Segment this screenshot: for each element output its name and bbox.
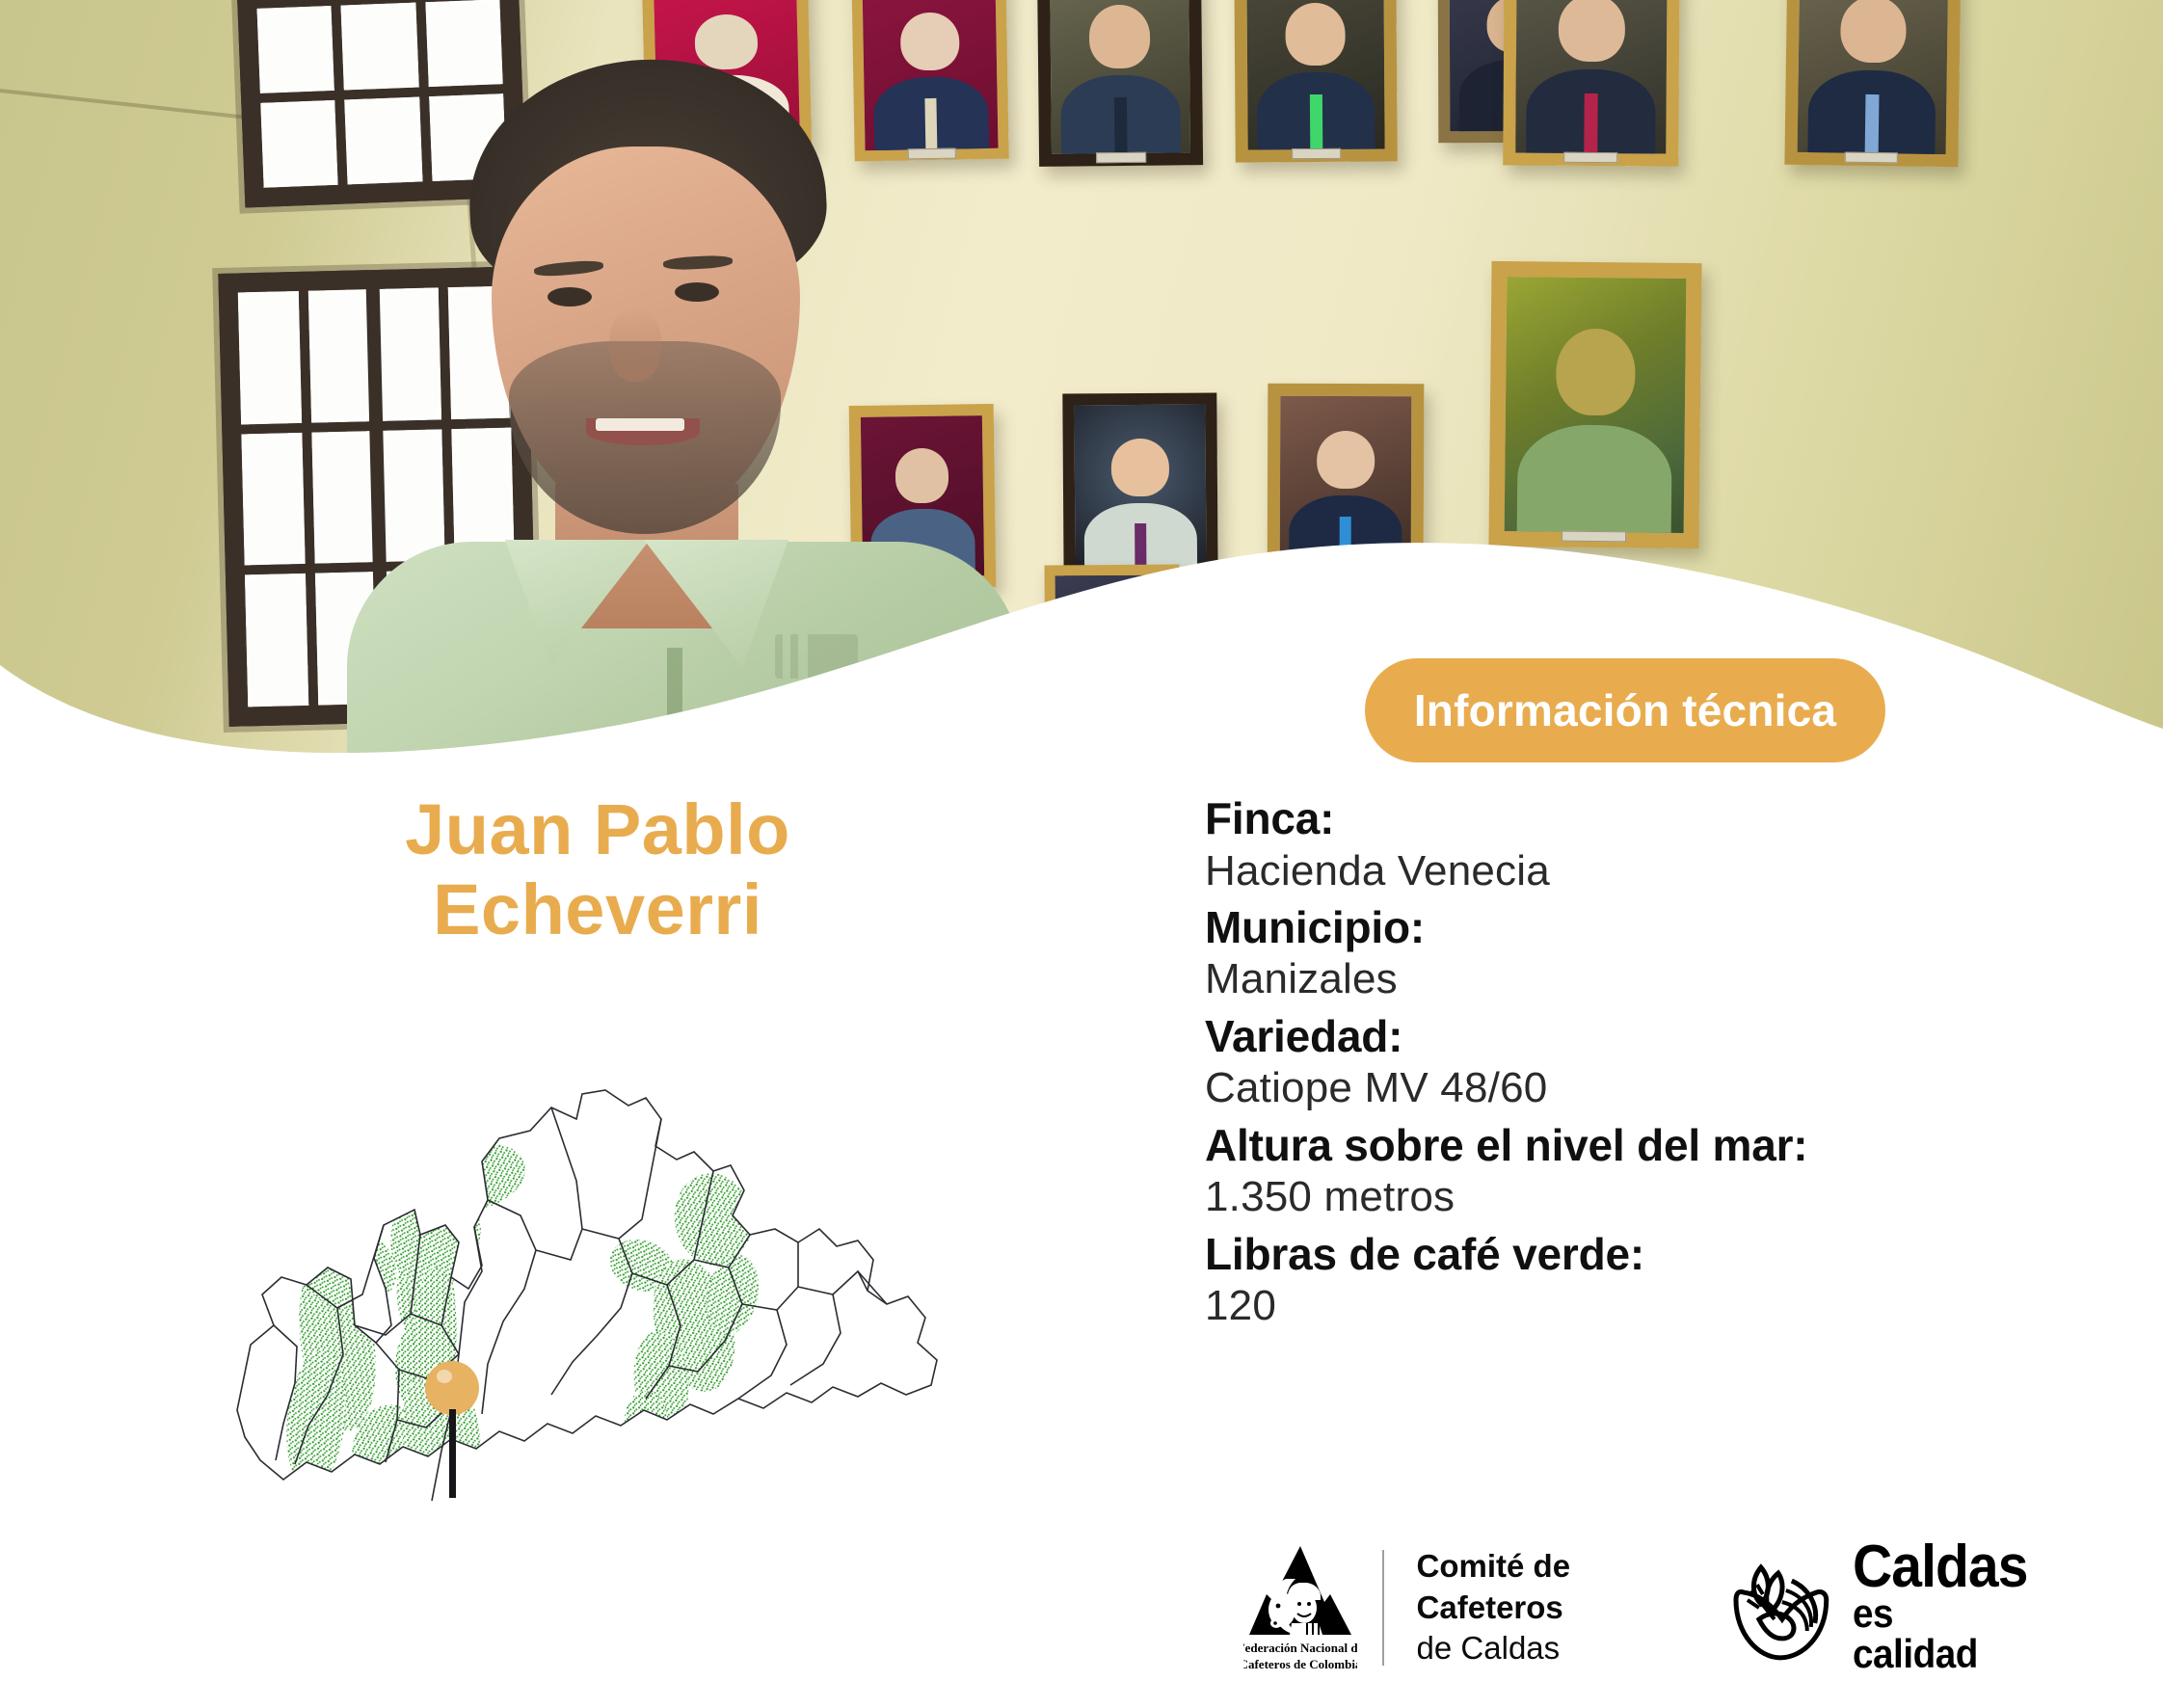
subject-nose [609,308,661,382]
info-value-municipio: Manizales [1205,952,2130,1005]
info-value-finca: Hacienda Venecia [1205,844,2130,897]
info-row-variedad: Variedad: Catiope MV 48/60 [1205,1012,2130,1115]
technical-info-badge-label: Información técnica [1414,684,1836,736]
subject-eye-right [675,282,719,302]
technical-info-list: Finca: Hacienda Venecia Municipio: Maniz… [1205,794,2130,1339]
caldas-basket-leaves-icon [1722,1550,1838,1666]
subject-teeth [596,418,684,431]
caldas-department-map [193,1036,964,1576]
info-row-libras: Libras de café verde: 120 [1205,1230,2130,1333]
svg-text:®: ® [1336,1625,1343,1635]
juan-valdez-mountain-icon: ® Federación Nacional de Cafeteros de Co… [1243,1540,1357,1675]
info-label-altura: Altura sobre el nivel del mar: [1205,1121,2130,1171]
map-svg [193,1036,964,1576]
map-pin-stem [449,1409,456,1498]
photographic-background [0,0,2163,761]
portrait-plaque [1845,152,1899,164]
subject-eye-left [547,287,592,307]
subject-shirt-pocket [767,696,893,761]
comite-line2: de Caldas [1417,1628,1655,1669]
info-label-municipio: Municipio: [1205,903,2130,953]
profile-card: Juan Pablo Echeverri [0,0,2163,1708]
window-pane [241,433,305,566]
info-label-libras: Libras de café verde: [1205,1230,2130,1280]
window-pane [311,431,375,564]
portrait-plaque [1292,148,1341,159]
federacion-nacional-cafeteros-logo: ® Federación Nacional de Cafeteros de Co… [1243,1540,1357,1675]
portrait-plaque [1562,531,1626,543]
info-row-finca: Finca: Hacienda Venecia [1205,794,2130,897]
wall-portrait [1784,0,1961,167]
info-row-municipio: Municipio: Manizales [1205,903,2130,1006]
person-last-name: Echeverri [116,870,1080,950]
person-name: Juan Pablo Echeverri [116,790,1080,950]
hero-photo-region [0,0,2163,761]
wall-portrait [1037,0,1203,167]
wall-portrait [1044,565,1180,710]
info-row-altura: Altura sobre el nivel del mar: 1.350 met… [1205,1121,2130,1224]
map-location-pin [425,1361,479,1415]
wall-portrait [1236,574,1380,710]
fnc-line2: Cafeteros de Colombia [1243,1657,1357,1671]
portrait-plaque [1563,152,1617,163]
subject-shirt-logo [775,634,858,679]
wall-portrait [1503,0,1680,167]
subject-shirt-placket [667,648,682,761]
wall-portrait [1062,392,1217,586]
caldas-line1: Caldas [1853,1541,2028,1594]
comite-cafeteros-caldas-wordmark: Comité de Cafeteros de Caldas [1417,1546,1655,1670]
window-pane [257,6,335,93]
logo-divider [1382,1550,1384,1666]
person-first-name: Juan Pablo [116,790,1080,870]
info-value-variedad: Catiope MV 48/60 [1205,1061,2130,1114]
window-pane [307,289,371,422]
comite-line1: Comité de Cafeteros [1417,1546,1655,1629]
window-pane [238,291,302,424]
caldas-line2: es calidad [1853,1593,2028,1674]
map-pin-highlight [437,1370,452,1383]
technical-info-badge: Información técnica [1365,658,1885,762]
caldas-es-calidad-logo: Caldas es calidad [1722,1541,2043,1675]
wall-portrait-painting [1488,261,1701,548]
info-label-variedad: Variedad: [1205,1012,2130,1062]
portrait-plaque [1096,152,1146,164]
coffee-coverage-areas [280,1133,766,1555]
info-label-finca: Finca: [1205,794,2130,844]
window-pane [260,100,338,188]
info-value-altura: 1.350 metros [1205,1170,2130,1223]
wall-portrait [1268,384,1425,581]
wall-portrait [1234,0,1398,163]
caldas-wordmark-text: Caldas es calidad [1853,1541,2043,1675]
window-pane [245,574,308,707]
info-value-libras: 120 [1205,1279,2130,1332]
photo-subject-portrait [386,60,983,761]
fnc-line1: Federación Nacional de [1243,1641,1357,1655]
footer-logos: ® Federación Nacional de Cafeteros de Co… [1243,1540,2043,1675]
